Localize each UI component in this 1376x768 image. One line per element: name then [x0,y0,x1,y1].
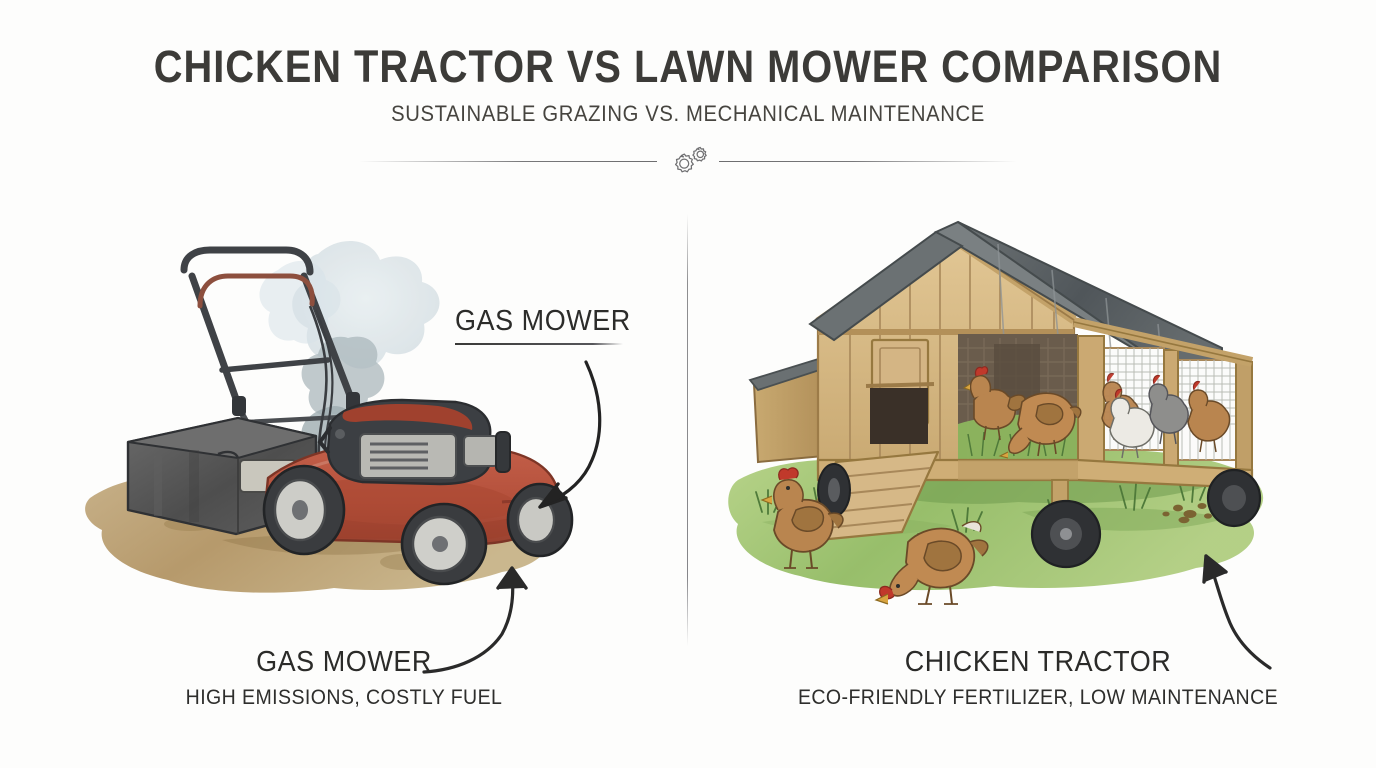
center-divider [687,214,688,646]
ornament-rule-right [719,161,1017,162]
header: CHICKEN TRACTOR VS LAWN MOWER COMPARISON… [0,0,1376,126]
gas-mower-callout-label: GAS MOWER [455,306,631,336]
gears-icon [657,139,719,183]
curved-arrow-down-left-icon [500,340,650,525]
infographic-canvas: CHICKEN TRACTOR VS LAWN MOWER COMPARISON… [0,0,1376,768]
chicken-pop-hole [870,388,928,444]
page-title: CHICKEN TRACTOR VS LAWN MOWER COMPARISON [79,0,1297,90]
run-post-3 [1236,362,1252,470]
left-caption: GAS MOWER HIGH EMISSIONS, COSTLY FUEL [84,647,604,709]
right-caption-subtitle: ECO-FRIENDLY FERTILIZER, LOW MAINTENANCE [796,686,1280,709]
mower-engine [320,400,510,484]
ornament-rule-left [359,161,657,162]
page-subtitle: SUSTAINABLE GRAZING VS. MECHANICAL MAINT… [69,90,1307,126]
wheel-rear-left [264,466,344,554]
left-caption-title: GAS MOWER [102,647,586,678]
right-caption-title: CHICKEN TRACTOR [796,647,1280,678]
right-caption: CHICKEN TRACTOR ECO-FRIENDLY FERTILIZER,… [778,647,1298,709]
left-caption-subtitle: HIGH EMISSIONS, COSTLY FUEL [102,686,586,709]
run-post-1 [1078,336,1104,466]
gas-mower-callout: GAS MOWER [455,306,644,345]
header-ornament [0,139,1376,183]
